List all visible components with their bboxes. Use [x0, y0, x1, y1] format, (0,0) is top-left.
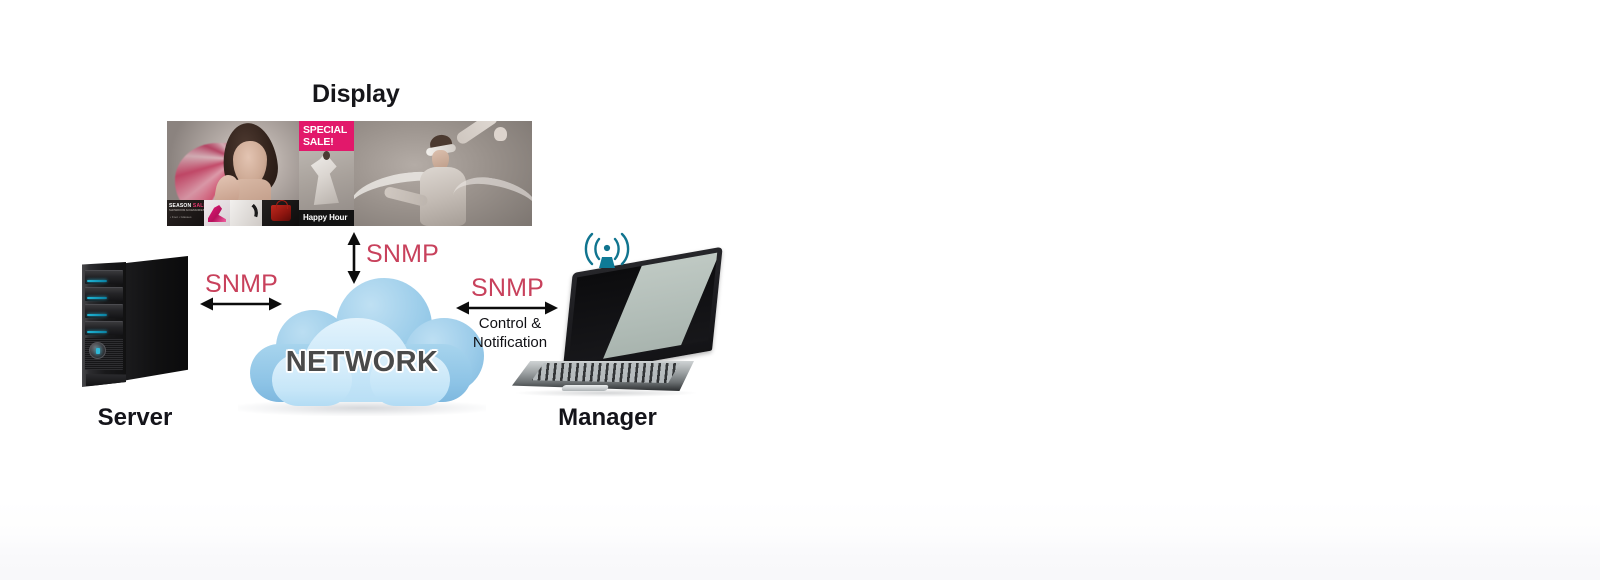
- drive-bay: [85, 270, 123, 284]
- accessory-graphic: [234, 201, 258, 225]
- arrow-server-to-network: [200, 292, 282, 316]
- thumbnail-strip: SEASON SALE SHOWROOM ACCESSORIES • Foot …: [167, 200, 299, 226]
- handbag-graphic: [271, 205, 291, 221]
- power-button-icon: [89, 342, 106, 359]
- display-panel-right: [354, 121, 532, 226]
- manager-label: Manager: [505, 404, 710, 432]
- thumbnail-pink-shoe: [204, 200, 230, 226]
- thumbnail-subtitle: SHOWROOM ACCESSORIES: [169, 209, 204, 212]
- thumbnail-season-sale: SEASON SALE SHOWROOM ACCESSORIES • Foot …: [167, 200, 204, 226]
- bottom-band: [0, 500, 1600, 580]
- dancer-left-hand-graphic: [494, 127, 507, 141]
- thumbnail-bullets: • Foot • Glasses: [170, 215, 191, 219]
- server-base: [86, 374, 126, 386]
- server-label: Server: [60, 404, 210, 432]
- display-video-wall: SEASON SALE SHOWROOM ACCESSORIES • Foot …: [167, 121, 532, 226]
- display-title: Display: [312, 80, 512, 109]
- special-sale-banner: SPECIAL SALE!: [299, 121, 354, 151]
- drive-bay: [85, 321, 123, 335]
- arrow-display-to-network: [342, 232, 366, 284]
- cloud-shadow: [238, 400, 486, 416]
- dancer-figure-graphic: [307, 153, 345, 205]
- drive-bay: [85, 304, 123, 318]
- server-side-panel: [122, 256, 188, 381]
- server-front-panel: [82, 262, 126, 387]
- display-panel-middle: SPECIAL SALE! Happy Hour: [299, 121, 354, 226]
- special-sale-line2: SALE!: [303, 136, 354, 148]
- dancer-head-graphic: [323, 151, 330, 160]
- laptop-trackpad: [561, 385, 609, 391]
- dancer-left-arm-graphic: [455, 121, 500, 146]
- laptop-keyboard: [532, 363, 680, 383]
- control-notification-note: Control & Notification: [452, 314, 568, 352]
- snmp-label-top: SNMP: [366, 240, 439, 269]
- special-sale-line1: SPECIAL: [303, 124, 354, 136]
- drive-bay: [85, 287, 123, 301]
- diagram-canvas: Display SEASON SALE SHOWROOM ACCESSORIES…: [0, 0, 1600, 580]
- thumbnail-handbag: [262, 200, 299, 226]
- shoe-graphic: [208, 205, 226, 222]
- display-panel-left: SEASON SALE SHOWROOM ACCESSORIES • Foot …: [167, 121, 299, 226]
- server-illustration: [78, 256, 198, 388]
- thumbnail-accessory: [230, 200, 262, 226]
- happy-hour-bar: Happy Hour: [299, 210, 354, 226]
- wireless-signal-icon: [578, 226, 636, 270]
